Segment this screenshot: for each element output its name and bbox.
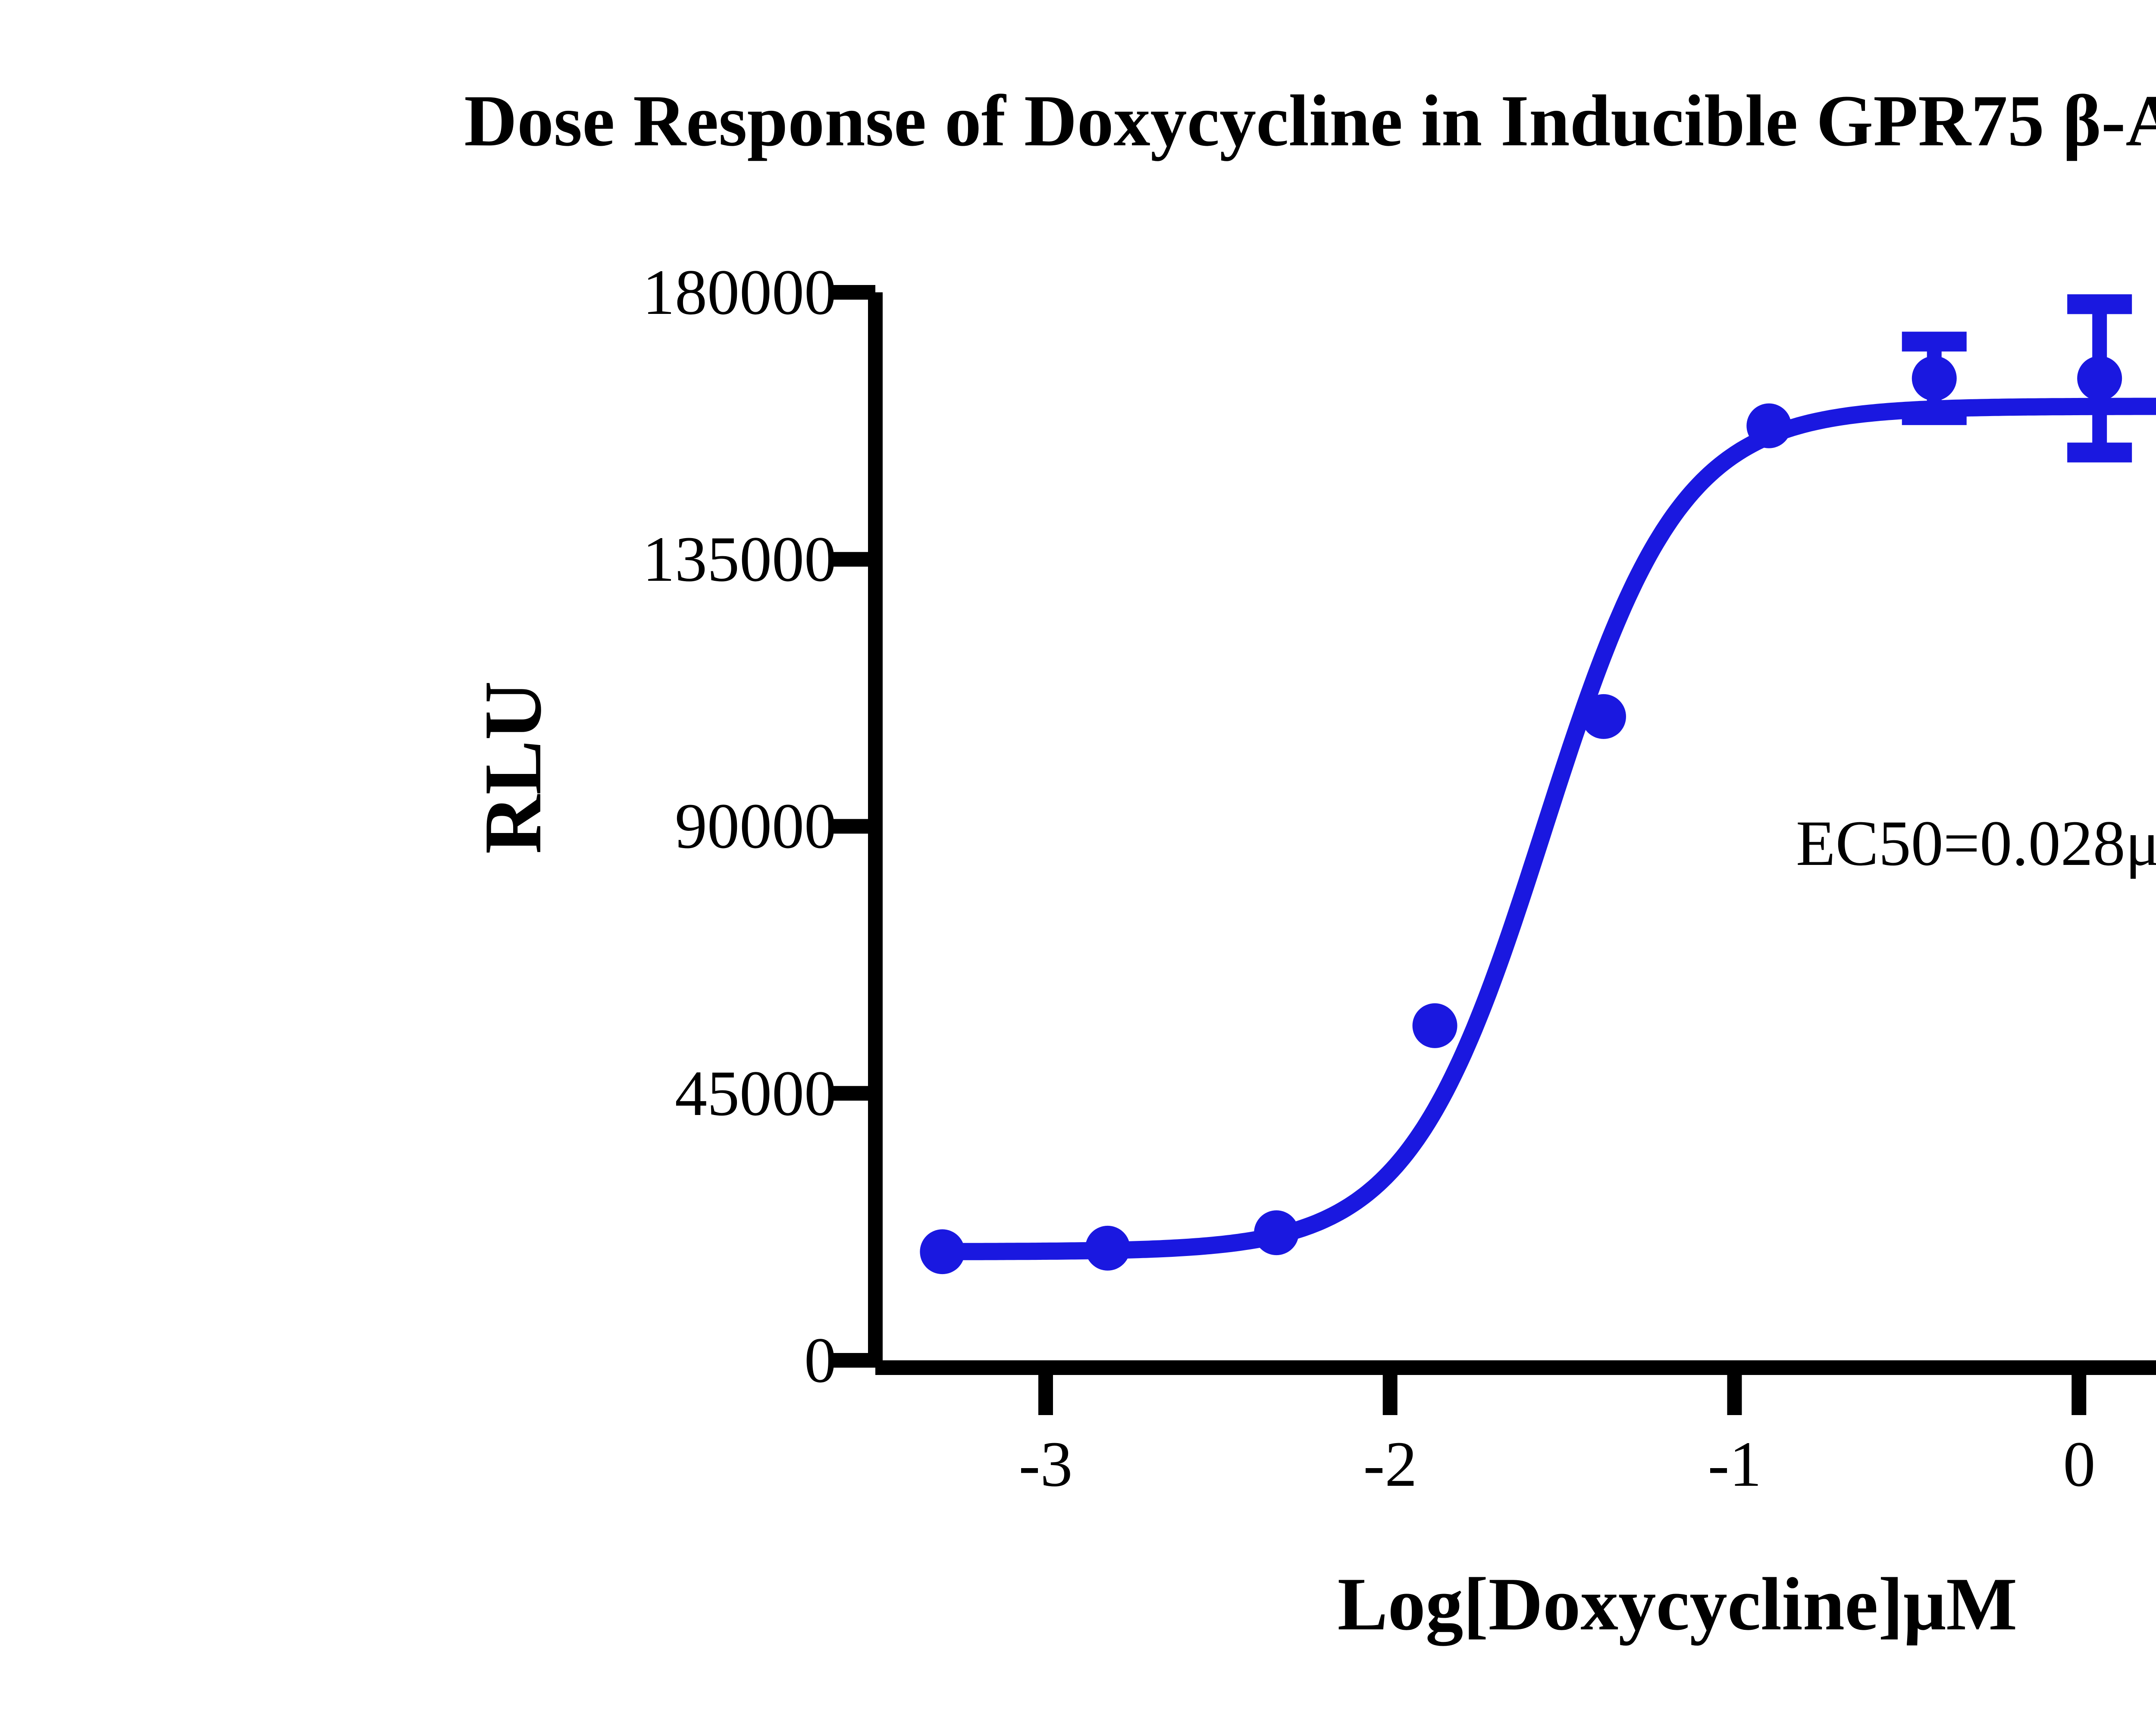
figure-root: Dose Response of Doxycycline in Inducibl… bbox=[0, 0, 2156, 1735]
data-point-marker bbox=[1254, 1210, 1299, 1255]
data-point-marker bbox=[1413, 1003, 1457, 1048]
data-markers bbox=[920, 356, 2156, 1275]
axes-spines bbox=[875, 292, 2156, 1368]
data-point-marker bbox=[920, 1229, 965, 1274]
error-bars bbox=[1902, 304, 2156, 533]
fit-curve bbox=[932, 406, 2156, 1252]
plot-area bbox=[0, 0, 2156, 1735]
data-point-marker bbox=[1746, 404, 1791, 448]
data-point-marker bbox=[2077, 356, 2122, 401]
data-point-marker bbox=[1581, 694, 1626, 739]
data-point-marker bbox=[1912, 356, 1957, 401]
data-point-marker bbox=[1085, 1226, 1130, 1271]
